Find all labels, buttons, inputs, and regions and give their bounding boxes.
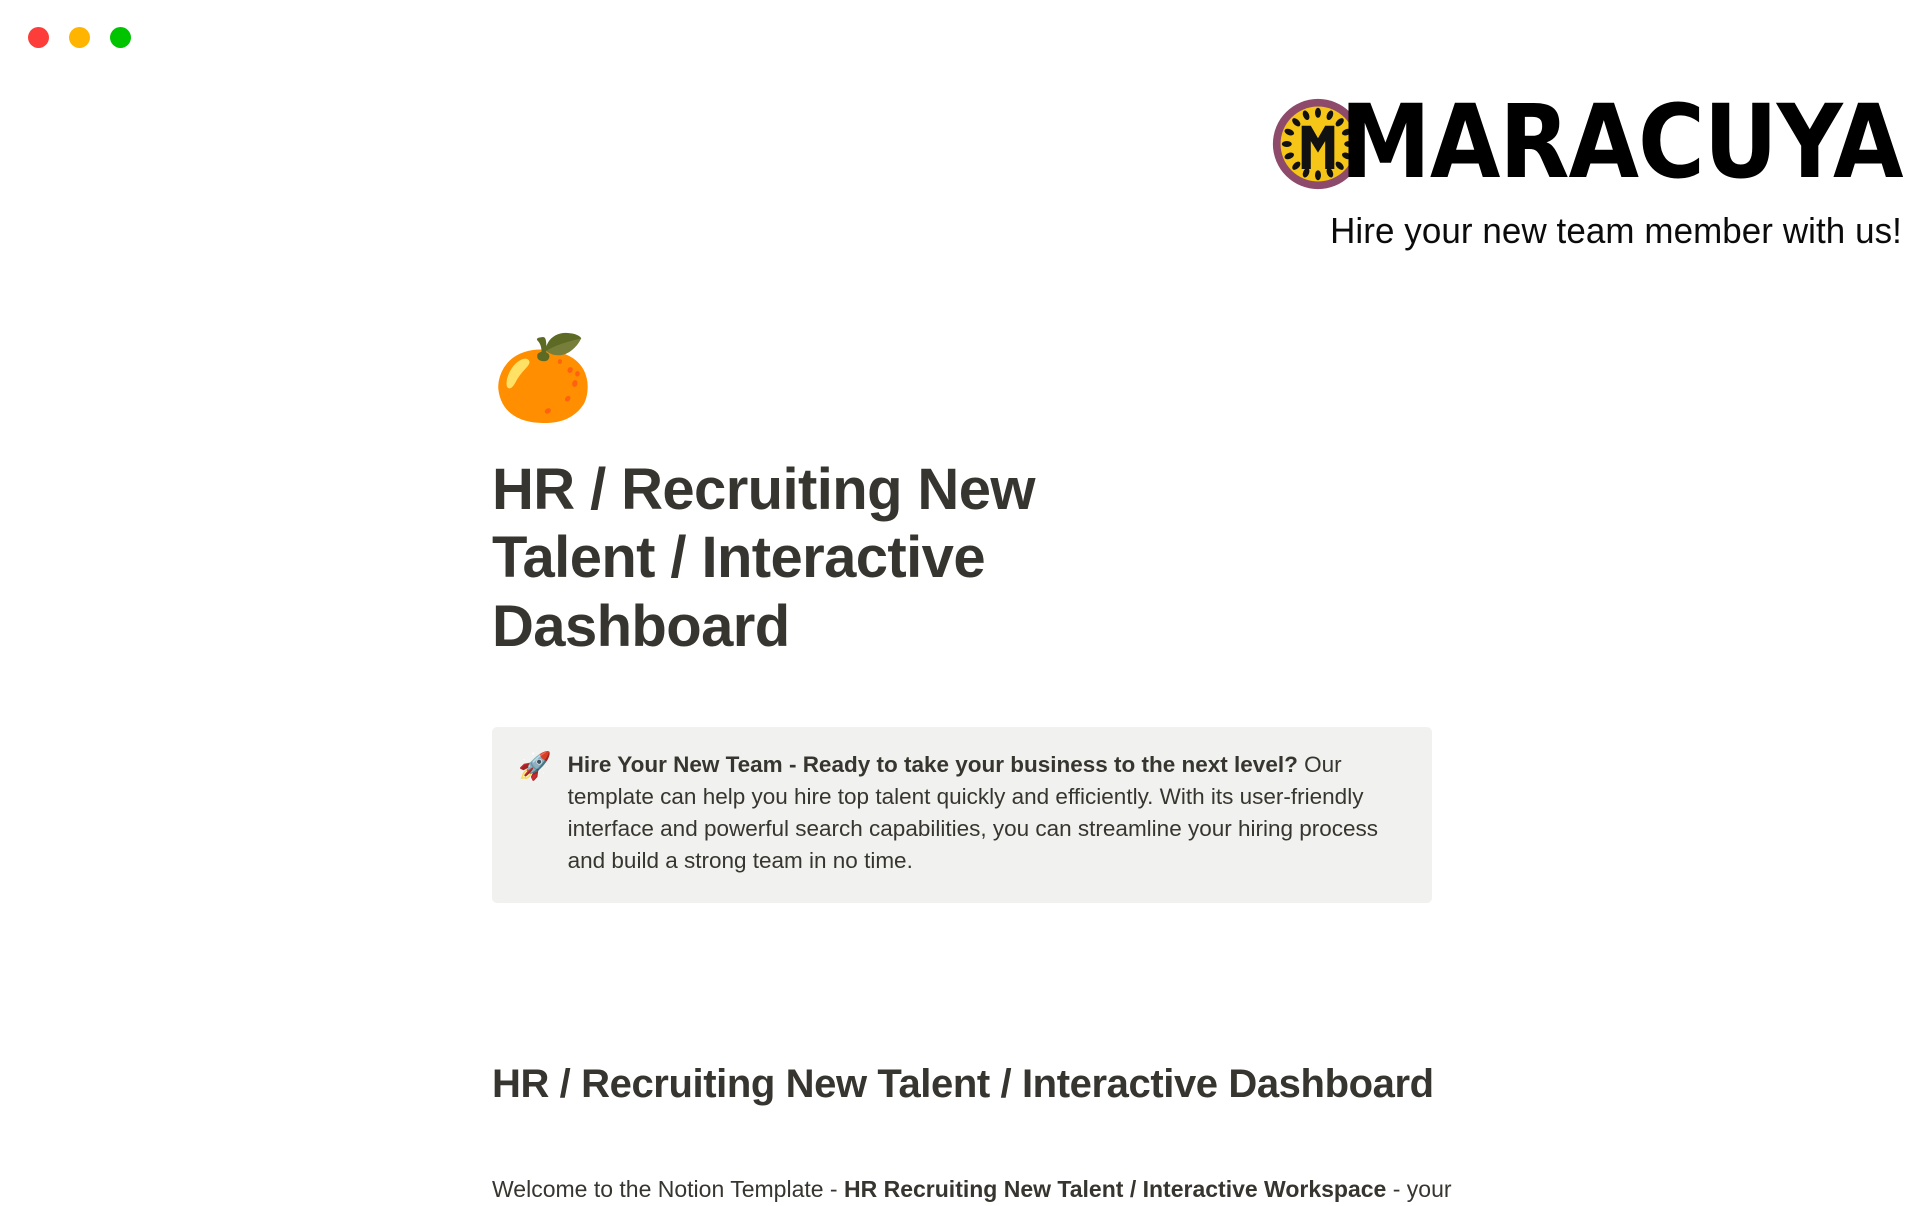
paragraph-after: - your all- bbox=[1386, 1176, 1452, 1202]
paragraph-bold: HR Recruiting New Talent / Interactive W… bbox=[844, 1176, 1386, 1202]
window-controls bbox=[28, 27, 131, 48]
brand-lockup: MARACUYA bbox=[942, 96, 1902, 192]
section-intro-paragraph: Welcome to the Notion Template - HR Recr… bbox=[492, 1172, 1452, 1206]
section-heading: HR / Recruiting New Talent / Interactive… bbox=[492, 1060, 1452, 1108]
callout-block: 🚀 Hire Your New Team - Ready to take you… bbox=[492, 727, 1432, 903]
callout-bold-lead: Hire Your New Team - Ready to take your … bbox=[568, 752, 1298, 777]
tangerine-emoji: 🍊 bbox=[492, 338, 1432, 430]
brand-tagline: Hire your new team member with us! bbox=[971, 210, 1902, 252]
callout-text: Hire Your New Team - Ready to take your … bbox=[568, 749, 1406, 877]
page-content: 🍊 HR / Recruiting New Talent / Interacti… bbox=[492, 338, 1432, 903]
minimize-window-button[interactable] bbox=[69, 27, 90, 48]
maximize-window-button[interactable] bbox=[110, 27, 131, 48]
window-titlebar bbox=[0, 0, 1920, 74]
rocket-icon: 🚀 bbox=[518, 749, 552, 783]
brand-wordmark: MARACUYA bbox=[1340, 98, 1902, 189]
page-title: HR / Recruiting New Talent / Interactive… bbox=[492, 456, 1212, 661]
brand-header: MARACUYA Hire your new team member with … bbox=[942, 96, 1902, 252]
close-window-button[interactable] bbox=[28, 27, 49, 48]
paragraph-before: Welcome to the Notion Template - bbox=[492, 1176, 844, 1202]
